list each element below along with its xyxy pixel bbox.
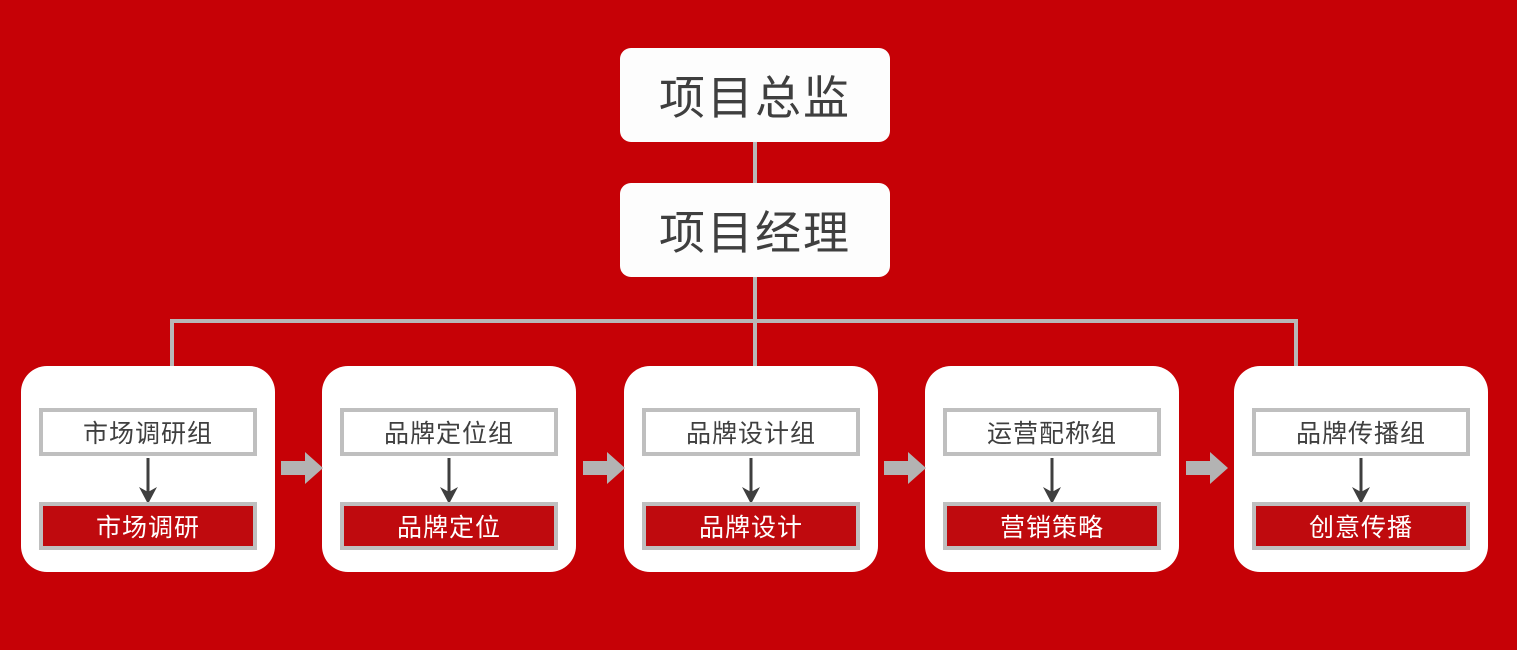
connector-horizontal-bus	[170, 319, 1298, 323]
team-name-label: 市场调研组	[83, 414, 213, 450]
task-name-box[interactable]: 市场调研	[39, 502, 257, 550]
task-name-box[interactable]: 品牌设计	[642, 502, 860, 550]
task-name-label: 市场调研	[96, 508, 200, 544]
task-name-label: 营销策略	[1000, 508, 1104, 544]
team-card[interactable]: 品牌传播组 创意传播	[1234, 366, 1488, 572]
connector-leg-left	[170, 319, 174, 367]
right-block-arrow-icon	[281, 451, 323, 485]
node-project-director[interactable]: 项目总监	[620, 48, 890, 142]
team-name-box[interactable]: 品牌设计组	[642, 408, 860, 456]
task-name-box[interactable]: 营销策略	[943, 502, 1161, 550]
team-name-box[interactable]: 市场调研组	[39, 408, 257, 456]
team-name-label: 运营配称组	[987, 414, 1117, 450]
down-arrow-icon	[740, 458, 762, 504]
team-card-row: 市场调研组 市场调研 品牌定位组 品牌定位 品牌设计	[0, 366, 1517, 576]
org-chart-diagram: 项目总监 项目经理 市场调研组 市场调研 品牌定位组	[0, 0, 1517, 650]
right-block-arrow-icon	[1186, 451, 1228, 485]
task-name-label: 品牌定位	[397, 508, 501, 544]
team-name-label: 品牌传播组	[1296, 414, 1426, 450]
team-name-box[interactable]: 运营配称组	[943, 408, 1161, 456]
task-name-box[interactable]: 创意传播	[1252, 502, 1470, 550]
connector-leg-right	[1294, 319, 1298, 367]
node-project-manager-label: 项目经理	[659, 197, 851, 263]
team-name-box[interactable]: 品牌传播组	[1252, 408, 1470, 456]
down-arrow-icon	[1041, 458, 1063, 504]
node-project-director-label: 项目总监	[659, 62, 851, 128]
right-block-arrow-icon	[583, 451, 625, 485]
task-name-label: 品牌设计	[699, 508, 803, 544]
down-arrow-icon	[438, 458, 460, 504]
task-name-label: 创意传播	[1309, 508, 1413, 544]
team-card[interactable]: 市场调研组 市场调研	[21, 366, 275, 572]
team-card[interactable]: 品牌设计组 品牌设计	[624, 366, 878, 572]
team-name-label: 品牌定位组	[384, 414, 514, 450]
team-name-box[interactable]: 品牌定位组	[340, 408, 558, 456]
team-card[interactable]: 品牌定位组 品牌定位	[322, 366, 576, 572]
right-block-arrow-icon	[884, 451, 926, 485]
team-name-label: 品牌设计组	[686, 414, 816, 450]
team-card[interactable]: 运营配称组 营销策略	[925, 366, 1179, 572]
task-name-box[interactable]: 品牌定位	[340, 502, 558, 550]
down-arrow-icon	[1350, 458, 1372, 504]
node-project-manager[interactable]: 项目经理	[620, 183, 890, 277]
down-arrow-icon	[137, 458, 159, 504]
connector-director-to-manager	[753, 140, 757, 185]
